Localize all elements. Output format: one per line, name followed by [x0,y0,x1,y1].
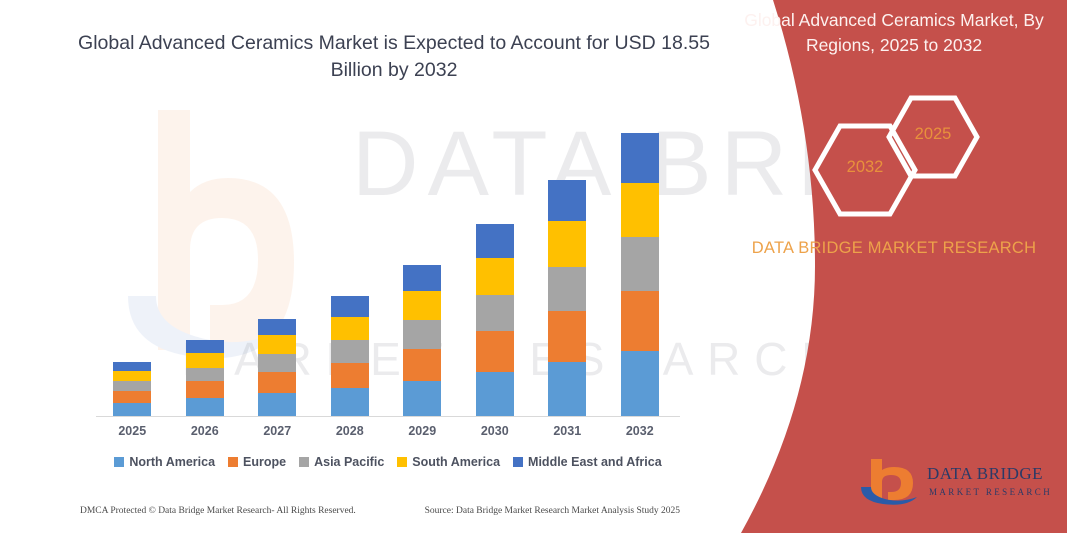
bar-segment [186,398,224,416]
bar-segment [113,391,151,403]
bar-segment [258,354,296,372]
bar-segment [403,291,441,320]
right-panel: Global Advanced Ceramics Market, By Regi… [707,0,1067,533]
bar-segment [331,317,369,340]
x-axis-tick-label: 2032 [604,424,676,438]
legend-swatch [513,457,523,467]
bar-segment [476,258,514,295]
legend-item[interactable]: Europe [228,455,286,469]
bar-segment [476,372,514,416]
bar-segment [113,371,151,381]
bar-segment [621,351,659,416]
x-axis-tick-label: 2031 [531,424,603,438]
bar-segment [186,381,224,398]
x-axis-tick-label: 2025 [96,424,168,438]
bar-segment [186,353,224,367]
bar-segment [476,224,514,257]
bar-segment [113,381,151,391]
legend-item[interactable]: Middle East and Africa [513,455,662,469]
stacked-bar-plot [96,120,676,416]
x-axis-tick-label: 2030 [459,424,531,438]
hexagon-badge-2025: 2025 [885,94,981,180]
legend-item[interactable]: Asia Pacific [299,455,384,469]
x-axis-tick-label: 2028 [314,424,386,438]
brand-name: DATA BRIDGE MARKET RESEARCH [735,236,1053,262]
bar-segment [403,320,441,348]
bar-column [113,362,151,416]
legend-swatch [114,457,124,467]
hexagon-badge-2032: 2032 [811,122,919,218]
bar-column [476,224,514,416]
bar-segment [186,368,224,382]
legend-label: Asia Pacific [314,455,384,469]
x-axis-tick-label: 2026 [169,424,241,438]
footer-copyright: DMCA Protected © Data Bridge Market Rese… [80,506,356,516]
bar-segment [331,296,369,317]
svg-text:MARKET RESEARCH: MARKET RESEARCH [929,487,1051,497]
x-axis-tick-label: 2027 [241,424,313,438]
bar-column [403,265,441,416]
legend-label: South America [412,455,500,469]
bar-segment [113,362,151,371]
x-axis-line [96,416,680,417]
bar-segment [331,388,369,416]
legend-label: North America [129,455,215,469]
bar-segment [621,237,659,290]
hexagon-label-end: 2032 [811,158,919,177]
hexagon-label-start: 2025 [885,125,981,144]
bar-segment [113,403,151,416]
bar-segment [548,311,586,362]
legend-swatch [299,457,309,467]
bar-column [186,340,224,416]
bar-segment [258,393,296,416]
legend-swatch [397,457,407,467]
legend-item[interactable]: South America [397,455,500,469]
bar-segment [331,363,369,389]
chart-legend: North AmericaEuropeAsia PacificSouth Ame… [96,455,680,469]
bar-segment [548,267,586,311]
bar-segment [548,362,586,416]
bar-segment [403,381,441,416]
bar-column [621,133,659,416]
legend-label: Europe [243,455,286,469]
svg-text:DATA BRIDGE: DATA BRIDGE [927,464,1043,483]
data-bridge-logo-icon: DATA BRIDGE MARKET RESEARCH [855,455,1051,507]
panel-title: Global Advanced Ceramics Market, By Regi… [735,8,1053,59]
legend-swatch [228,457,238,467]
bar-segment [186,340,224,353]
bar-segment [548,221,586,267]
bar-segment [258,335,296,354]
bar-segment [476,295,514,331]
bar-column [258,319,296,416]
infographic-root: DATA BRIDGE MARKET RESEARCH Global Advan… [0,0,1067,533]
footer-source: Source: Data Bridge Market Research Mark… [425,506,680,516]
bar-segment [621,183,659,238]
bar-segment [403,265,441,291]
bar-column [331,296,369,416]
bar-column [548,180,586,416]
legend-label: Middle East and Africa [528,455,662,469]
bar-segment [258,372,296,393]
bar-segment [331,340,369,363]
red-panel-shape [707,0,1067,533]
legend-item[interactable]: North America [114,455,215,469]
bar-segment [548,180,586,221]
chart-container: 20252026202720282029203020312032 North A… [0,0,720,533]
bar-segment [403,349,441,382]
bar-segment [621,291,659,352]
bar-segment [258,319,296,335]
x-axis-tick-label: 2029 [386,424,458,438]
bar-segment [621,133,659,182]
bar-segment [476,331,514,372]
footer: DMCA Protected © Data Bridge Market Rese… [80,506,680,516]
hexagon-badges: 2025 2032 [707,92,1067,207]
x-axis-labels: 20252026202720282029203020312032 [96,424,676,444]
